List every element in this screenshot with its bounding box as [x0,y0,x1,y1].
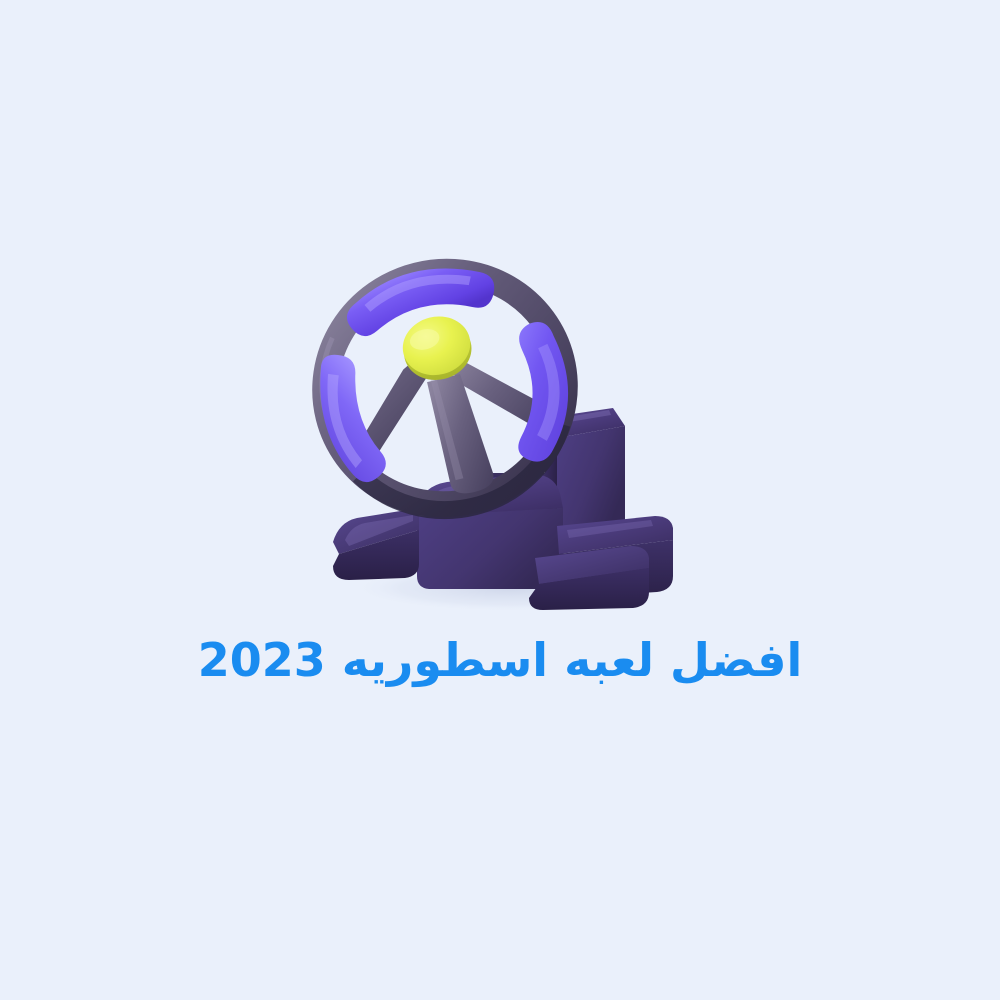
dot-row [0,354,274,360]
dot-row [0,249,259,255]
dot-row [0,384,274,390]
dot-row [0,159,259,165]
dot-row [0,174,274,180]
dot-row [0,114,274,120]
left-pedal [333,508,419,580]
dot-row [0,144,274,150]
dot-row [0,219,259,225]
dot-row [0,309,259,315]
dot-row [0,444,274,450]
dot-row [0,264,274,270]
dot-row [0,189,259,195]
dot-row [0,399,259,405]
dot-row [0,369,259,375]
console-block-side [557,426,625,528]
dot-row [0,204,274,210]
dot-row [0,339,259,345]
dot-row [0,234,274,240]
dot-row [0,324,274,330]
dot-row [0,129,259,135]
dot-row [0,84,274,90]
dot-row [0,294,274,300]
dot-row [0,69,259,75]
halftone-dot-cluster [0,56,276,468]
dot-row [0,279,259,285]
page-title: افضل لعبه اسطوريه 2023 [198,633,803,688]
headline-block: افضل لعبه اسطوريه 2023 [0,624,1000,698]
poster-canvas: افضل لعبه اسطوريه 2023 [0,0,1000,1000]
dot-row [0,459,259,465]
dot-row [0,429,259,435]
dot-row [0,99,259,105]
dot-row [0,414,274,420]
racing-wheel-illustration [295,258,705,618]
